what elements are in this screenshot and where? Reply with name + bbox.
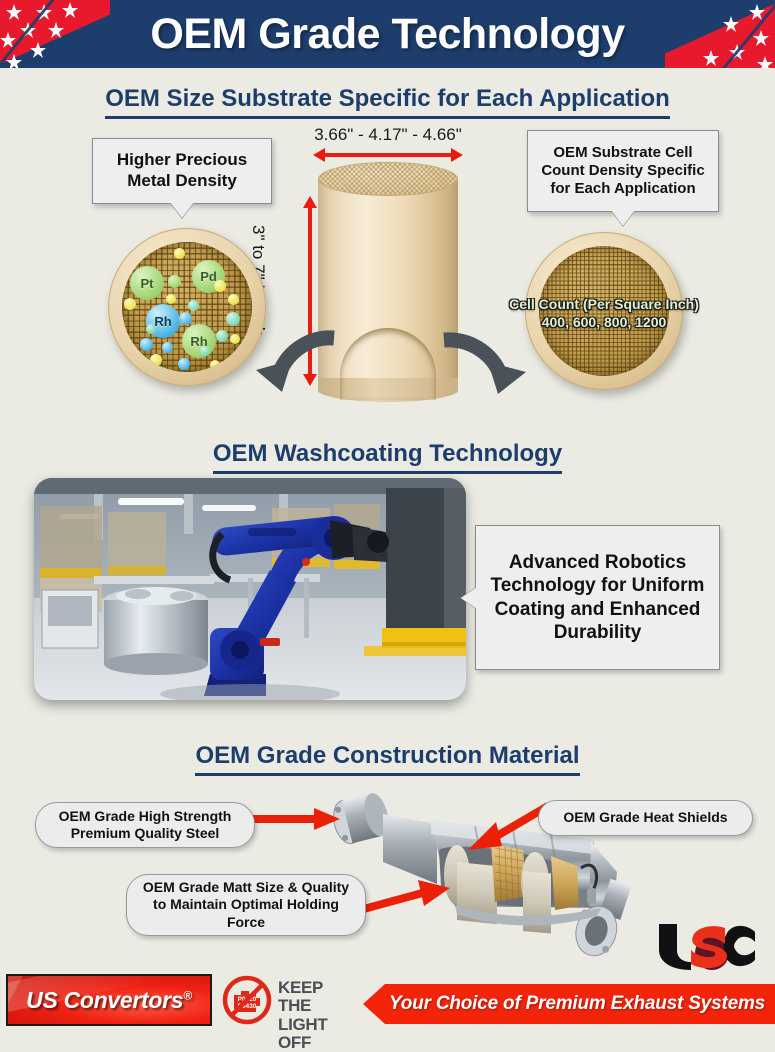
section-heading-construction: OEM Grade Construction Material [0, 742, 775, 776]
callout-precious-metal-density: Higher Precious Metal Density [92, 138, 272, 204]
keep-the-light-off-text: KEEP THE LIGHT OFF [278, 979, 357, 1052]
particle-dot [178, 358, 190, 370]
particle-dot [124, 298, 136, 310]
arrow-to-right-disc [440, 330, 535, 405]
brand-name: US Convertors® [26, 987, 192, 1014]
arrow-to-steel [252, 806, 342, 832]
particle-dot [230, 334, 240, 344]
substrate-cylinder [318, 162, 458, 402]
keep-the-light-off-badge: P0420 P0430 KEEP THE LIGHT OFF [222, 975, 357, 1025]
brand-badge: US Convertors® [6, 974, 212, 1026]
honeycomb-grid: Pt Pd Rh Rh [122, 242, 252, 372]
particle-pt: Pt [130, 266, 164, 300]
particle-dot [226, 312, 240, 326]
particle-dot [146, 324, 156, 334]
callout-cell-count-density: OEM Substrate Cell Count Density Specifi… [527, 130, 719, 212]
arrow-to-left-disc [248, 330, 338, 405]
robot-line-illustration [34, 478, 466, 700]
particle-dot [140, 338, 153, 351]
particle-dot [179, 312, 192, 325]
particle-dot [228, 294, 239, 305]
label-premium-steel: OEM Grade High Strength Premium Quality … [35, 802, 255, 848]
callout-tail [611, 210, 635, 226]
arrow-to-heat-shields [464, 800, 550, 854]
callout-tail [461, 587, 477, 609]
page-title: OEM Grade Technology [0, 0, 775, 68]
particle-rh-green: Rh [182, 324, 216, 358]
callout-advanced-robotics: Advanced Robotics Technology for Uniform… [475, 525, 720, 670]
infographic-page: OEM Grade Technology OEM Size Substrate … [0, 0, 775, 1034]
page-header: OEM Grade Technology [0, 0, 775, 68]
particle-dot [162, 342, 173, 353]
particle-dot [150, 354, 162, 366]
cell-count-title: Cell Count (Per Square Inch) [499, 296, 709, 314]
precious-metal-disc: Pt Pd Rh Rh [108, 228, 266, 386]
particle-dot [214, 280, 226, 292]
cell-count-text: Cell Count (Per Square Inch) 400, 600, 8… [499, 296, 709, 331]
particle-dot [168, 275, 181, 288]
tagline-banner: Your Choice of Premium Exhaust Systems [363, 984, 775, 1024]
particle-dot [210, 360, 220, 370]
cell-count-values: 400, 600, 800, 1200 [499, 314, 709, 332]
label-heat-shields: OEM Grade Heat Shields [538, 800, 753, 836]
particle-dot [166, 294, 176, 304]
section-heading-substrate: OEM Size Substrate Specific for Each App… [0, 85, 775, 119]
diameter-arrow [313, 148, 463, 162]
washcoating-photo [34, 478, 466, 700]
particle-dot [174, 248, 185, 259]
arrow-to-matt [360, 880, 452, 916]
registered-mark: ® [183, 988, 192, 1002]
particle-dot [216, 330, 228, 342]
no-check-engine-light-icon: P0420 P0430 [222, 975, 272, 1025]
particle-dot [188, 300, 199, 311]
label-matt-quality: OEM Grade Matt Size & Quality to Maintai… [126, 874, 366, 936]
callout-tail [170, 202, 194, 218]
diameter-label: 3.66" - 4.17" - 4.66" [253, 125, 523, 145]
section-heading-washcoating: OEM Washcoating Technology [0, 440, 775, 474]
particle-dot [200, 346, 210, 356]
page-footer: US Convertors® P0420 P0430 KEEP THE LIGH… [0, 962, 775, 1034]
